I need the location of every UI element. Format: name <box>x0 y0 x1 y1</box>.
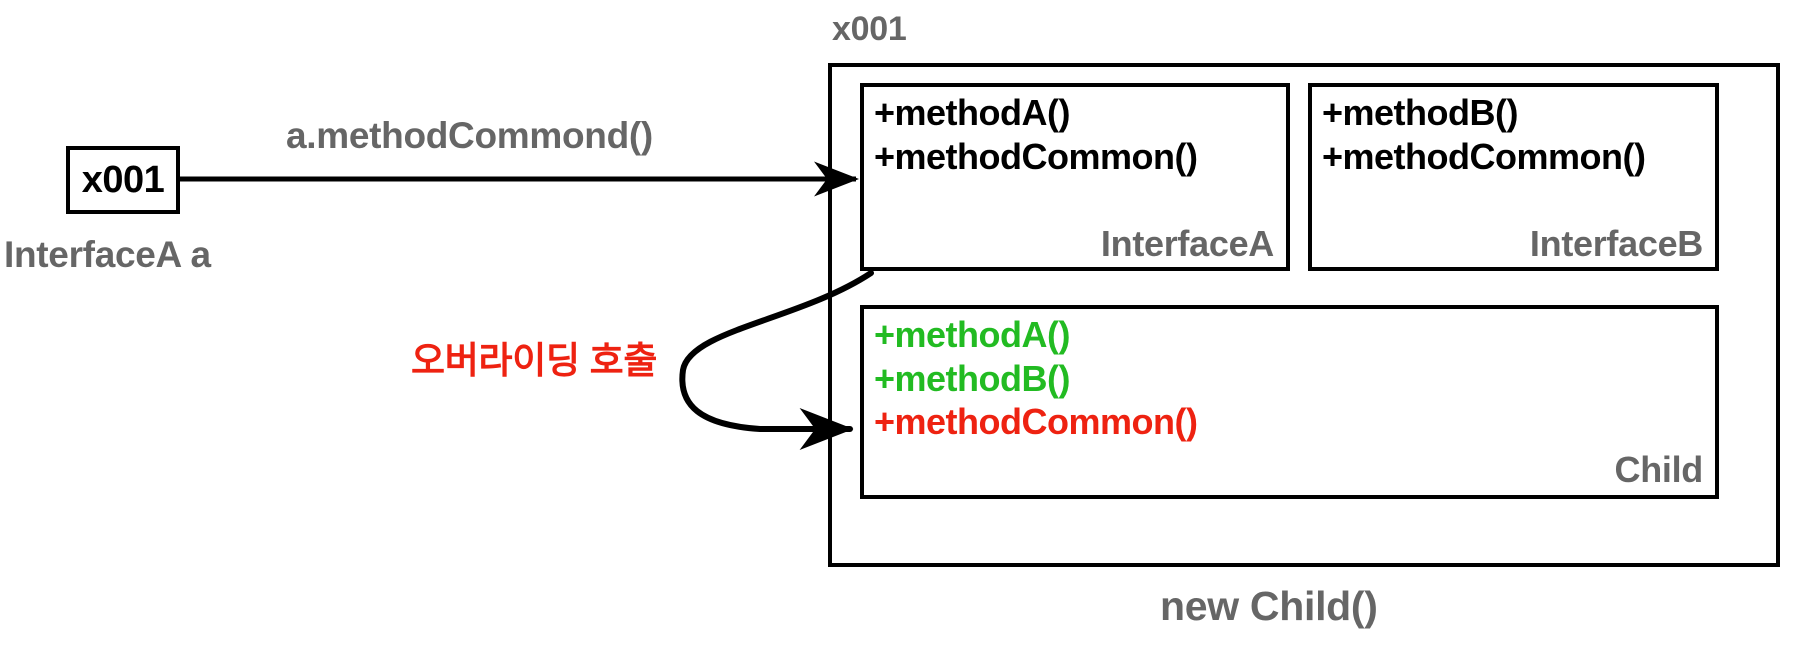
uml-box-child: +methodA() +methodB() +methodCommon() Ch… <box>860 305 1719 499</box>
reference-box-label: x001 <box>82 161 165 199</box>
member-item: +methodA() <box>874 313 1707 357</box>
method-call-label: a.methodCommond() <box>286 115 653 157</box>
uml-box-interface-b: +methodB() +methodCommon() InterfaceB <box>1308 83 1719 271</box>
diagram-canvas: x001 InterfaceA a a.methodCommond() 오버라이… <box>0 0 1809 651</box>
member-item: +methodB() <box>874 357 1707 401</box>
uml-box-interface-a: +methodA() +methodCommon() InterfaceA <box>860 83 1290 271</box>
type-name-label: InterfaceA <box>1101 223 1274 265</box>
object-title-label: x001 <box>832 10 906 49</box>
instance-label: new Child() <box>1160 583 1378 630</box>
variable-declaration-label: InterfaceA a <box>4 234 211 276</box>
member-item: +methodCommon() <box>874 135 1278 179</box>
member-item: +methodCommon() <box>874 400 1707 444</box>
member-list-interface-b: +methodB() +methodCommon() <box>1322 91 1707 178</box>
member-item: +methodA() <box>874 91 1278 135</box>
type-name-label: InterfaceB <box>1530 223 1703 265</box>
member-list-child: +methodA() +methodB() +methodCommon() <box>874 313 1707 444</box>
override-annotation-label: 오버라이딩 호출 <box>411 330 657 384</box>
type-name-label: Child <box>1615 449 1703 491</box>
member-item: +methodCommon() <box>1322 135 1707 179</box>
member-item: +methodB() <box>1322 91 1707 135</box>
member-list-interface-a: +methodA() +methodCommon() <box>874 91 1278 178</box>
reference-box-x001: x001 <box>66 146 180 214</box>
